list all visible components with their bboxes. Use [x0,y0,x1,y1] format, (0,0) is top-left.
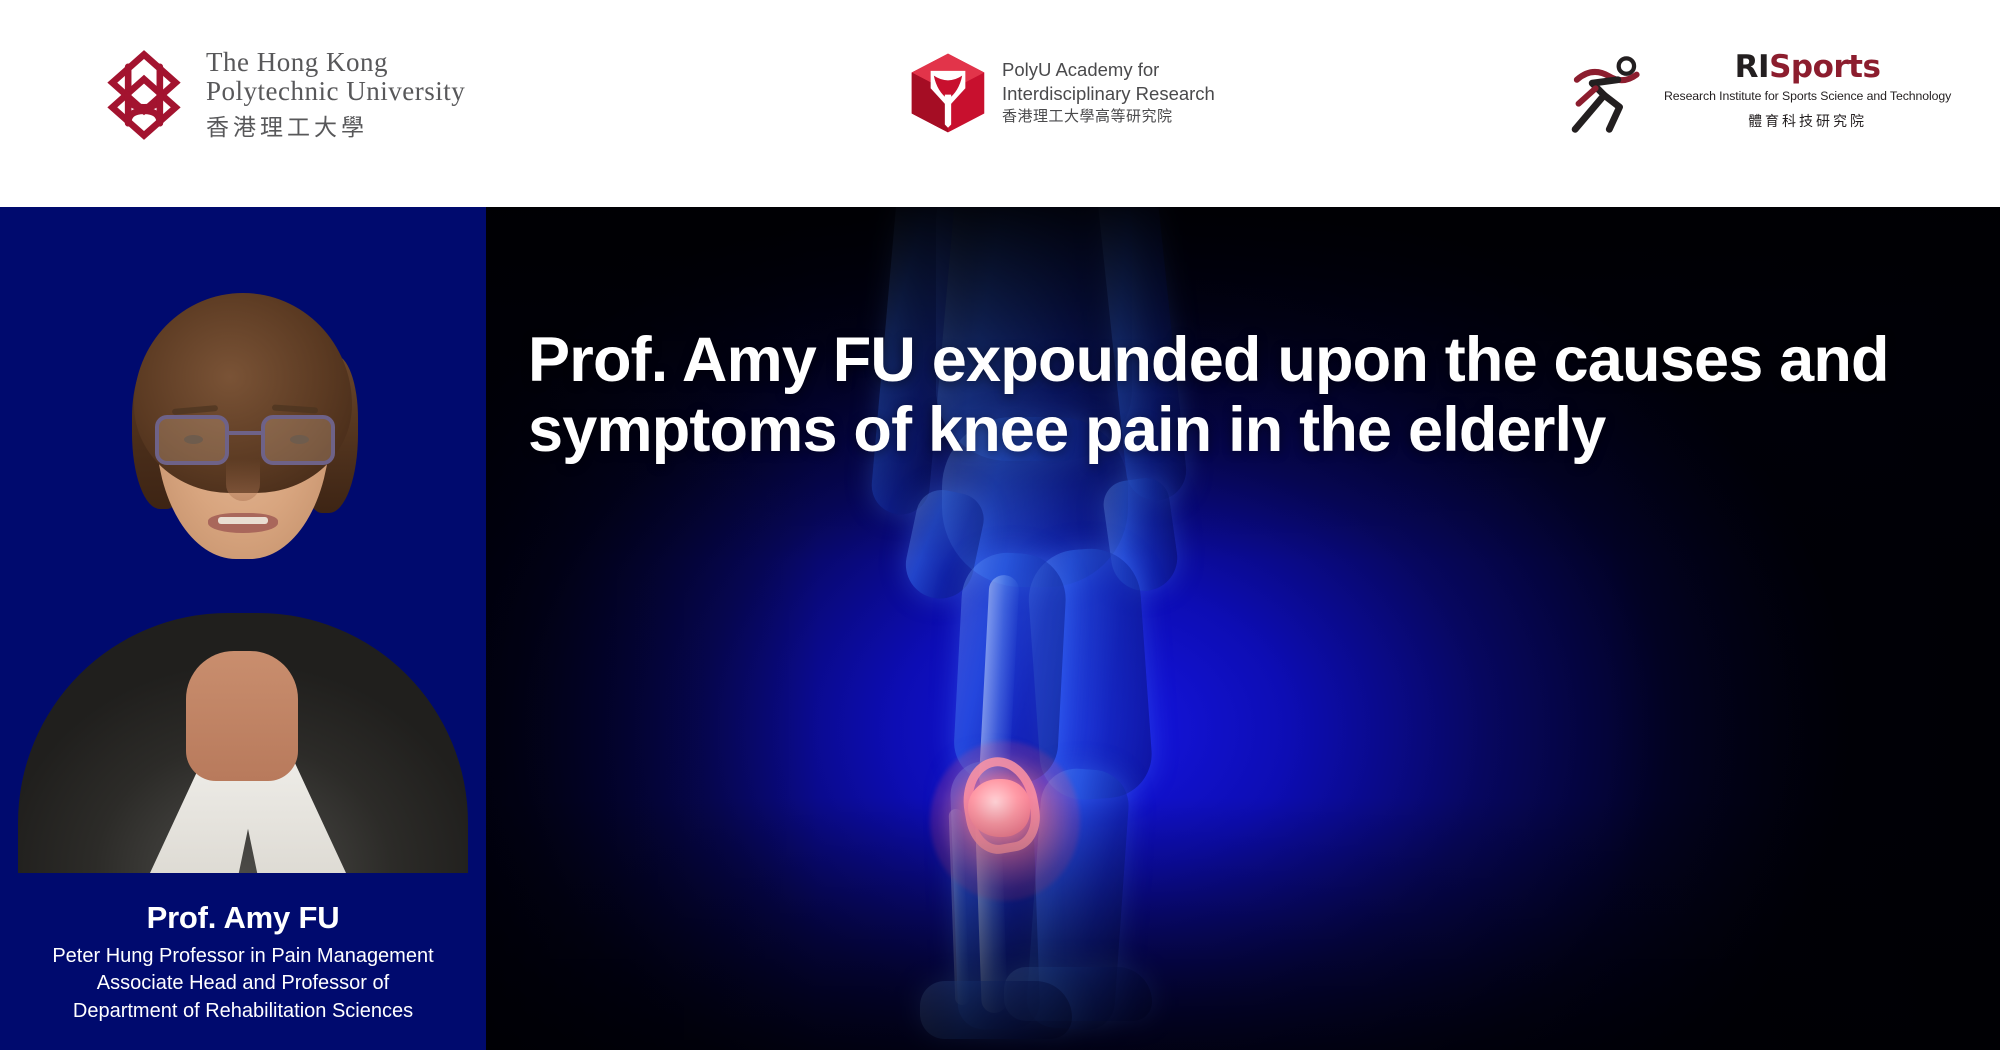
polyu-logo-text: The Hong Kong Polytechnic University 香港理… [206,48,465,142]
risports-chinese-name: 體育科技研究院 [1748,111,1867,131]
polyu-knot-mark-icon [100,49,188,141]
polyu-logo: The Hong Kong Polytechnic University 香港理… [100,48,465,142]
risports-ri-text: RI [1735,49,1769,85]
knee-patella [968,779,1030,837]
figure-foot-front [920,981,1072,1039]
portrait-nose [226,459,260,501]
speaker-panel: Prof. Amy FU Peter Hung Professor in Pai… [0,207,486,1050]
polyu-line-2: Polytechnic University [206,77,465,106]
headline-line-2: symptoms of knee pain in the elderly [528,396,1948,465]
runner-mark-icon [1570,54,1652,138]
pair-line-1: PolyU Academy for [1002,58,1215,81]
header-logo-bar: The Hong Kong Polytechnic University 香港理… [0,0,2000,207]
polyu-line-1: The Hong Kong [206,48,465,77]
speaker-title-block: Peter Hung Professor in Pain Management … [0,943,486,1026]
portrait-teeth [218,517,268,524]
speaker-name: Prof. Amy FU [0,902,486,935]
slide-headline: Prof. Amy FU expounded upon the causes a… [528,326,1948,465]
glasses-lens-left [155,415,229,465]
presentation-slide: The Hong Kong Polytechnic University 香港理… [0,0,2000,1050]
pair-chinese-name: 香港理工大學高等研究院 [1002,105,1215,128]
speaker-caption: Prof. Amy FU Peter Hung Professor in Pai… [0,873,486,1050]
speaker-portrait-photo [0,207,486,873]
speaker-title-line-3: Department of Rehabilitation Sciences [16,998,470,1026]
speaker-title-line-1: Peter Hung Professor in Pain Management [16,943,470,971]
polyu-chinese-name: 香港理工大學 [206,108,465,142]
headline-line-1: Prof. Amy FU expounded upon the causes a… [528,326,1948,395]
risports-wordmark: RISports [1735,52,1881,83]
risports-subtitle: Research Institute for Sports Science an… [1664,89,1951,103]
pair-cube-mark-icon [910,52,986,134]
glasses-bridge [229,431,261,435]
risports-sports-text: Sports [1769,49,1880,85]
pair-logo: PolyU Academy for Interdisciplinary Rese… [910,52,1215,134]
pair-line-2: Interdisciplinary Research [1002,82,1215,105]
speaker-title-line-2: Associate Head and Professor of [16,970,470,998]
glasses-lens-right [261,415,335,465]
risports-logo: RISports Research Institute for Sports S… [1570,52,1951,138]
portrait-neck [186,651,298,781]
risports-logo-text: RISports Research Institute for Sports S… [1664,52,1951,131]
pair-logo-text: PolyU Academy for Interdisciplinary Rese… [1002,58,1215,127]
